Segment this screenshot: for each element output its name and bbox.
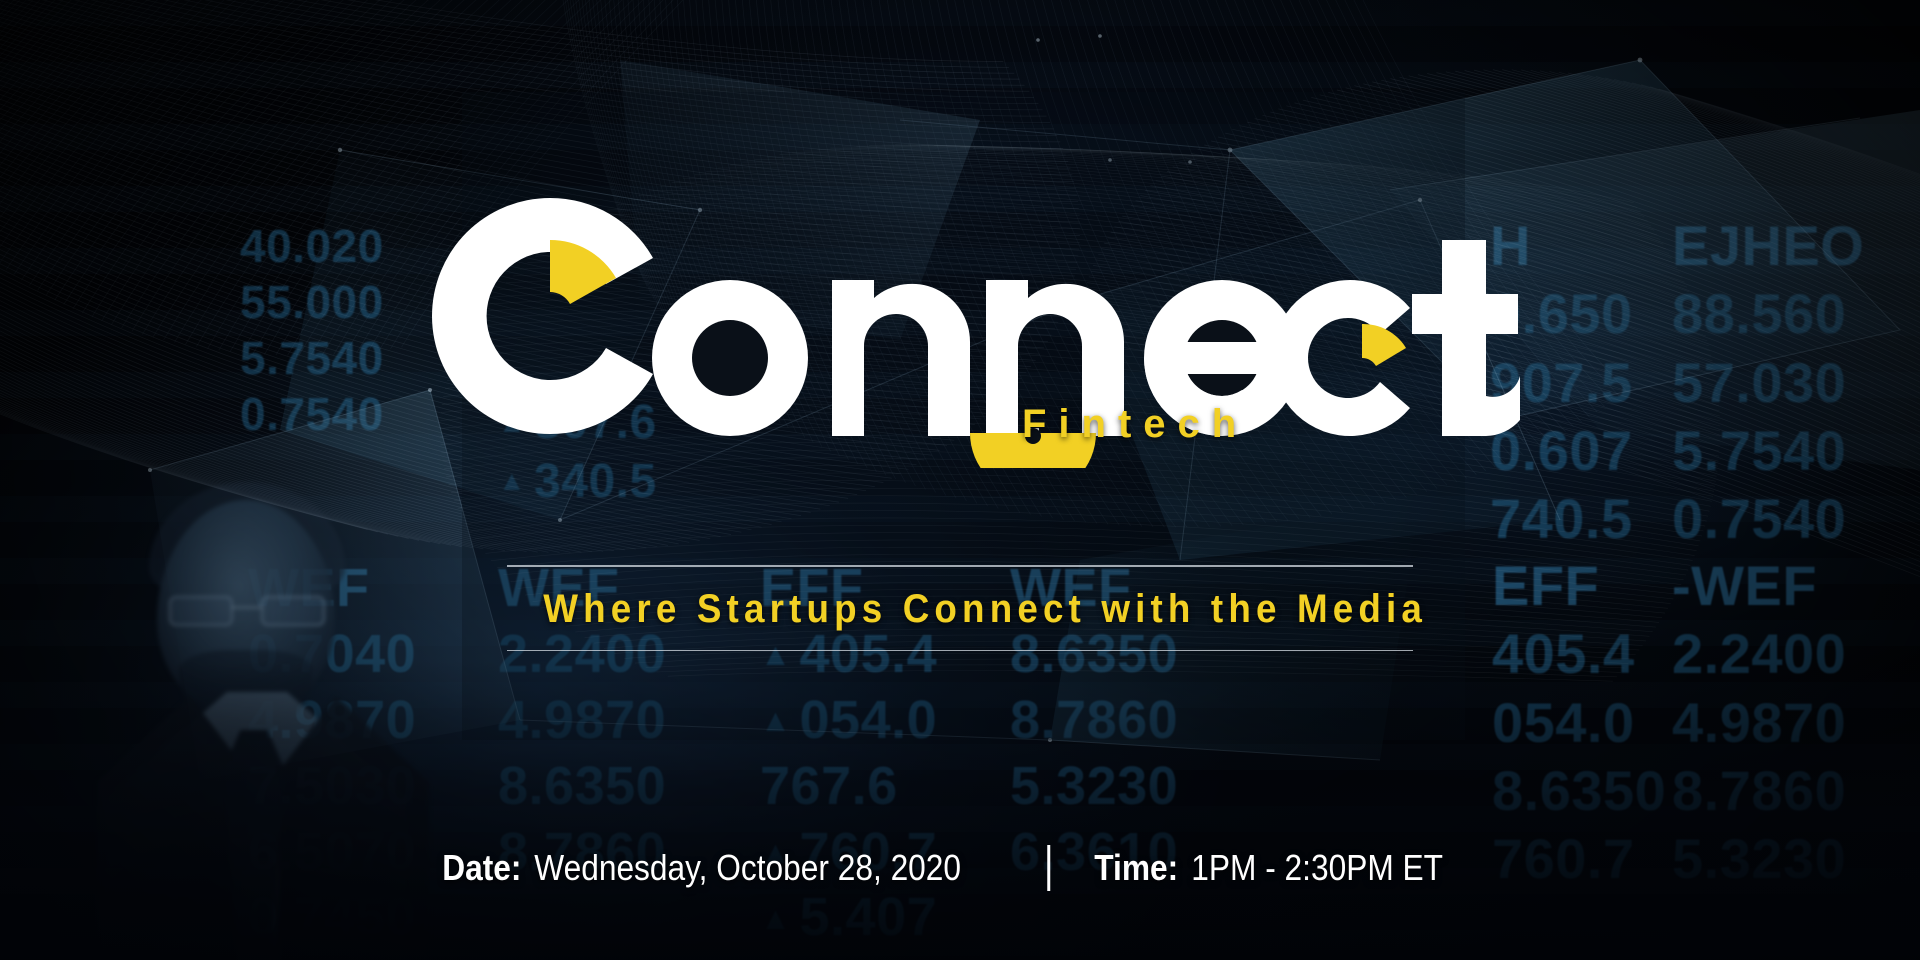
- promo-banner: 40.02055.0005.75400.7540WEF0.70404.98707…: [0, 0, 1920, 960]
- connect-logo: Connect: [400, 178, 1520, 468]
- logo-c2-accent: [1362, 324, 1406, 366]
- fintech-subtext: Fintech: [1022, 404, 1248, 444]
- date-value: Wednesday, October 28, 2020: [534, 850, 961, 886]
- event-datetime: Date: Wednesday, October 28, 2020 Time: …: [442, 845, 1477, 891]
- logo-letter-n1: [832, 280, 970, 436]
- datetime-separator: [1047, 845, 1050, 891]
- logo-letter-C: [432, 198, 653, 434]
- logo-letter-o: [652, 280, 808, 436]
- time-value: 1PM - 2:30PM ET: [1192, 850, 1444, 886]
- tagline-rule-bottom: [507, 650, 1413, 652]
- time-label: Time:: [1094, 850, 1178, 886]
- banner-content: Connect Fintech Where Startups Connect w…: [0, 0, 1920, 960]
- tagline-block: Where Startups Connect with the Media: [507, 565, 1413, 651]
- tagline-text: Where Startups Connect with the Media: [543, 567, 1377, 650]
- fintech-subtext-wrap: Fintech: [1022, 404, 1248, 444]
- logo-letter-t: [1412, 240, 1520, 436]
- date-label: Date:: [442, 850, 521, 886]
- connect-logo-mark: [400, 178, 1520, 468]
